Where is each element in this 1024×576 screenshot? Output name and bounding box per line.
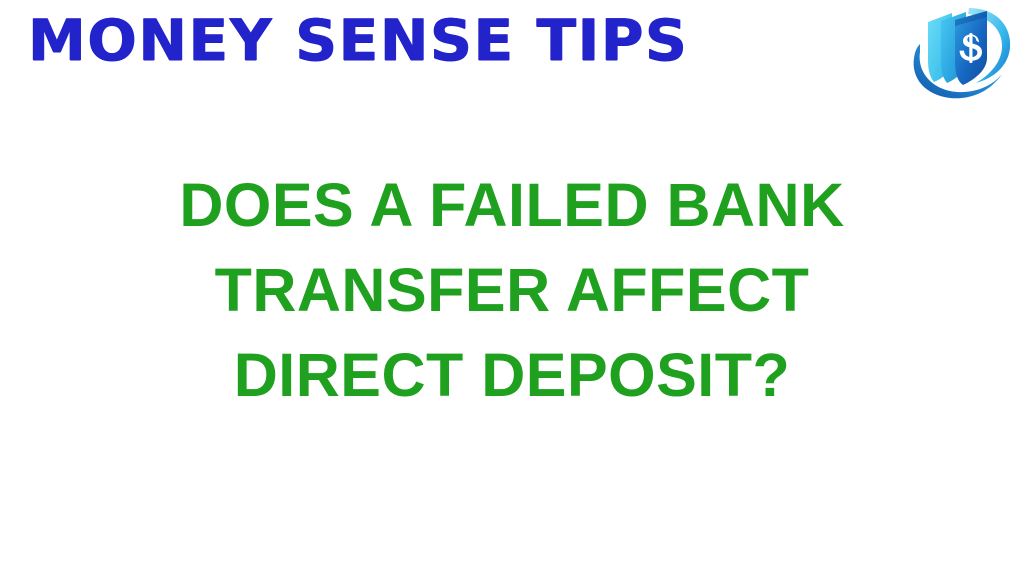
slide-canvas: MONEY SENSE TIPS	[0, 0, 1024, 576]
wordmark-seg-3: S	[295, 8, 338, 74]
wordmark-seg-4: NS	[380, 8, 474, 74]
brand-wordmark: MONEY SENSE TIPS	[28, 9, 688, 73]
headline-block: DOES A FAILED BANK TRANSFER AFFECT DIREC…	[0, 163, 1024, 418]
wordmark-seg-2: Y	[230, 8, 274, 74]
headline-line-3: DIRECT DEPOSIT?	[0, 333, 1024, 418]
wordmark-seg-1-e: E	[189, 9, 230, 73]
wordmark-seg-3-e1: E	[339, 9, 380, 73]
wordmark-seg-5: TIPS	[537, 8, 689, 74]
emblem-tagline	[924, 88, 1004, 96]
headline-line-2: TRANSFER AFFECT	[0, 248, 1024, 333]
wordmark-space-2	[515, 8, 537, 74]
headline-line-1: DOES A FAILED BANK	[0, 163, 1024, 248]
wordmark-seg-1: MON	[28, 8, 189, 74]
wordmark-space-1	[273, 8, 295, 74]
brand-header: MONEY SENSE TIPS	[0, 0, 1024, 110]
wordmark-seg-4-e2: E	[473, 9, 514, 73]
